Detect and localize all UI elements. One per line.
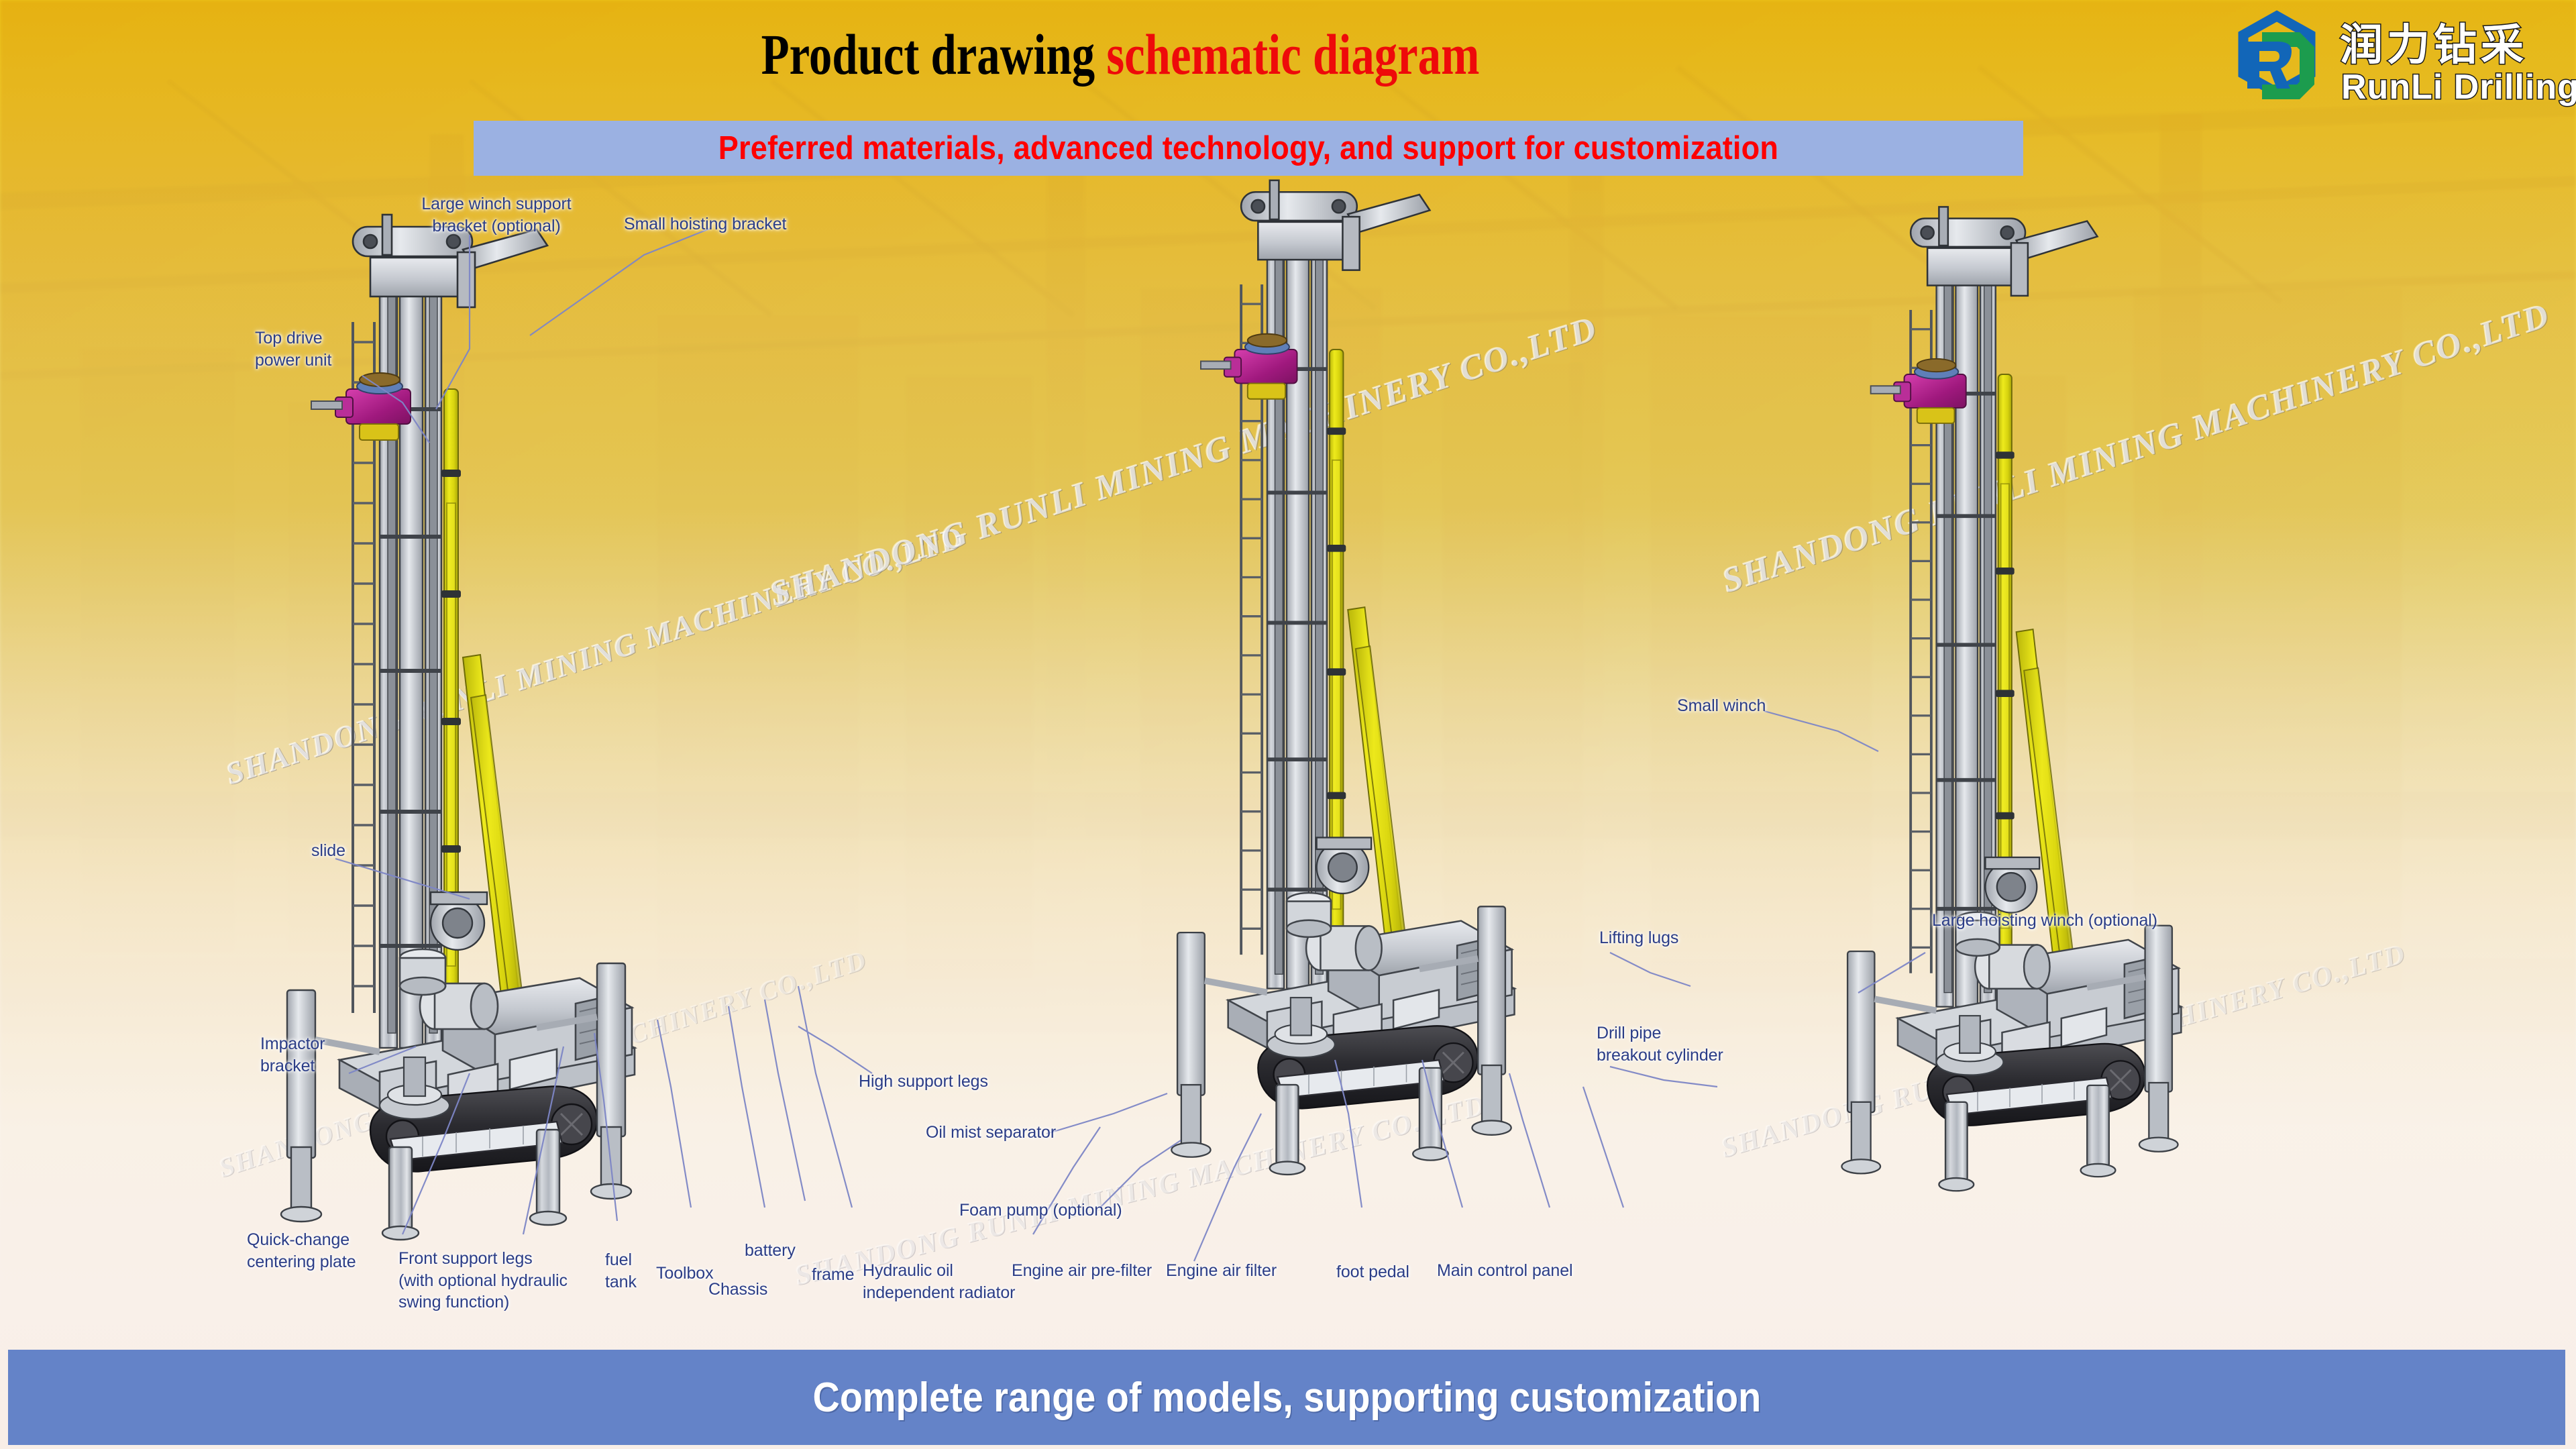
label-toolbox: Toolbox (656, 1263, 713, 1285)
footer-text: Complete range of models, supporting cus… (812, 1374, 1761, 1421)
drill-rig-left (281, 215, 635, 1240)
label-foam-pump: Foam pump (optional) (959, 1199, 1122, 1222)
label-frame: frame (812, 1264, 854, 1286)
label-top-drive-power-unit: Top drive power unit (255, 327, 331, 371)
drill-rig-right (1841, 207, 2181, 1191)
subtitle-text: Preferred materials, advanced technology… (718, 129, 1778, 167)
page-title: Product drawing schematic diagram (224, 25, 2017, 83)
company-logo: 润力钻采 RunLi Drilling (2235, 5, 2571, 126)
logo-chinese-name: 润力钻采 (2340, 11, 2528, 72)
label-slide: slide (311, 840, 345, 862)
label-lifting-lugs: Lifting lugs (1599, 927, 1678, 949)
logo-english-name: RunLi Drilling (2341, 67, 2576, 107)
label-large-winch-support-bracket: Large winch support bracket (optional) (402, 193, 590, 237)
label-high-support-legs: High support legs (859, 1071, 988, 1093)
label-drill-pipe-breakout-cylinder: Drill pipe breakout cylinder (1597, 1022, 1784, 1066)
label-small-winch: Small winch (1677, 695, 1766, 717)
label-large-hoisting-winch: Large hoisting winch (optional) (1932, 910, 2157, 932)
runli-logo-mark (2235, 9, 2336, 111)
label-chassis: Chassis (708, 1279, 767, 1301)
title-primary: Product drawing (761, 22, 1107, 87)
label-front-support-legs: Front support legs (with optional hydrau… (398, 1248, 613, 1313)
label-engine-air-pre-filter: Engine air pre-filter (1012, 1260, 1152, 1282)
slide-canvas: SHANDONG RUNLI MINING MACHINERY CO.,LTD … (0, 0, 2576, 1449)
label-oil-mist-separator: Oil mist separator (926, 1122, 1056, 1144)
label-foot-pedal: foot pedal (1336, 1261, 1409, 1283)
subtitle-banner: Preferred materials, advanced technology… (474, 121, 2023, 176)
label-main-control-panel: Main control panel (1437, 1260, 1573, 1282)
title-accent: schematic diagram (1106, 22, 1479, 87)
label-small-hoisting-bracket: Small hoisting bracket (624, 213, 786, 235)
label-battery: battery (745, 1240, 796, 1262)
label-engine-air-filter: Engine air filter (1166, 1260, 1277, 1282)
label-impactor-bracket: Impactor bracket (260, 1033, 325, 1077)
footer-banner: Complete range of models, supporting cus… (8, 1350, 2565, 1445)
drill-rig-center (1171, 180, 1514, 1175)
label-fuel-tank: fuel tank (605, 1249, 637, 1293)
